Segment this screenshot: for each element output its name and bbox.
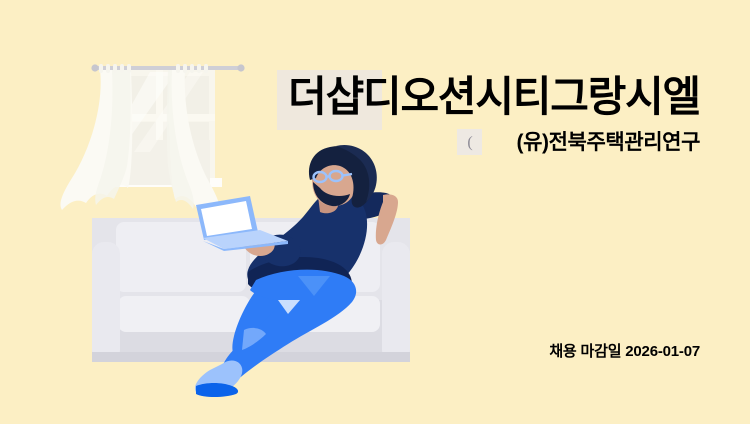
application-deadline: 채용 마감일 2026-01-07 [0, 340, 700, 361]
page-title: 더샵디오션시티그랑시엘 [0, 72, 700, 122]
text-layer: 더샵디오션시티그랑시엘 ( (유)전북주택관리연구 채용 마감일 2026-01… [0, 0, 750, 424]
job-posting-banner: 더샵디오션시티그랑시엘 ( (유)전북주택관리연구 채용 마감일 2026-01… [0, 0, 750, 424]
company-name: (유)전북주택관리연구 [0, 130, 700, 155]
